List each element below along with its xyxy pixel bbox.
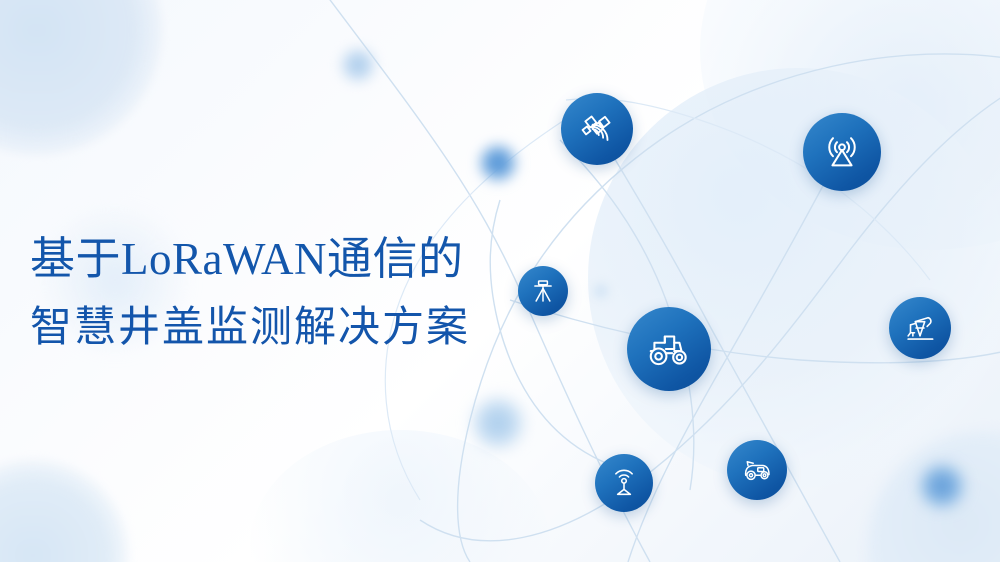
slide-title-line-1: 基于LoRaWAN通信的 [30, 228, 550, 290]
background-sphere-bottom [250, 430, 550, 562]
background-sphere-main [588, 68, 1000, 488]
node-radio-tower[interactable] [803, 113, 881, 191]
node-satellite[interactable] [561, 93, 633, 165]
node-tractor[interactable] [627, 307, 711, 391]
background-blob-bottom-right [868, 432, 1000, 562]
autonomous-rover-icon [739, 452, 775, 488]
accent-dot-top [340, 47, 376, 83]
tractor-icon [644, 324, 694, 374]
wireless-sensor-icon [607, 466, 641, 500]
node-oil-pumpjack[interactable] [889, 297, 951, 359]
background-blob-bottom-left [0, 460, 128, 562]
oil-pumpjack-icon [901, 309, 939, 347]
satellite-dish-icon [576, 108, 618, 150]
background-blob-top-left [0, 0, 162, 155]
accent-dot-lower-mid [470, 395, 526, 451]
slide-title-line-2: 智慧井盖监测解决方案 [30, 290, 550, 364]
node-autonomous-rover[interactable] [727, 440, 787, 500]
radio-tower-icon [819, 129, 865, 175]
accent-dot-upper-mid [477, 142, 519, 184]
node-wireless-sensor[interactable] [595, 454, 653, 512]
slide-canvas: 基于LoRaWAN通信的 智慧井盖监测解决方案 [0, 0, 1000, 562]
accent-dot-bottom-right [918, 462, 966, 510]
title-block: 基于LoRaWAN通信的 智慧井盖监测解决方案 [30, 228, 550, 364]
accent-dot-small [590, 280, 612, 302]
